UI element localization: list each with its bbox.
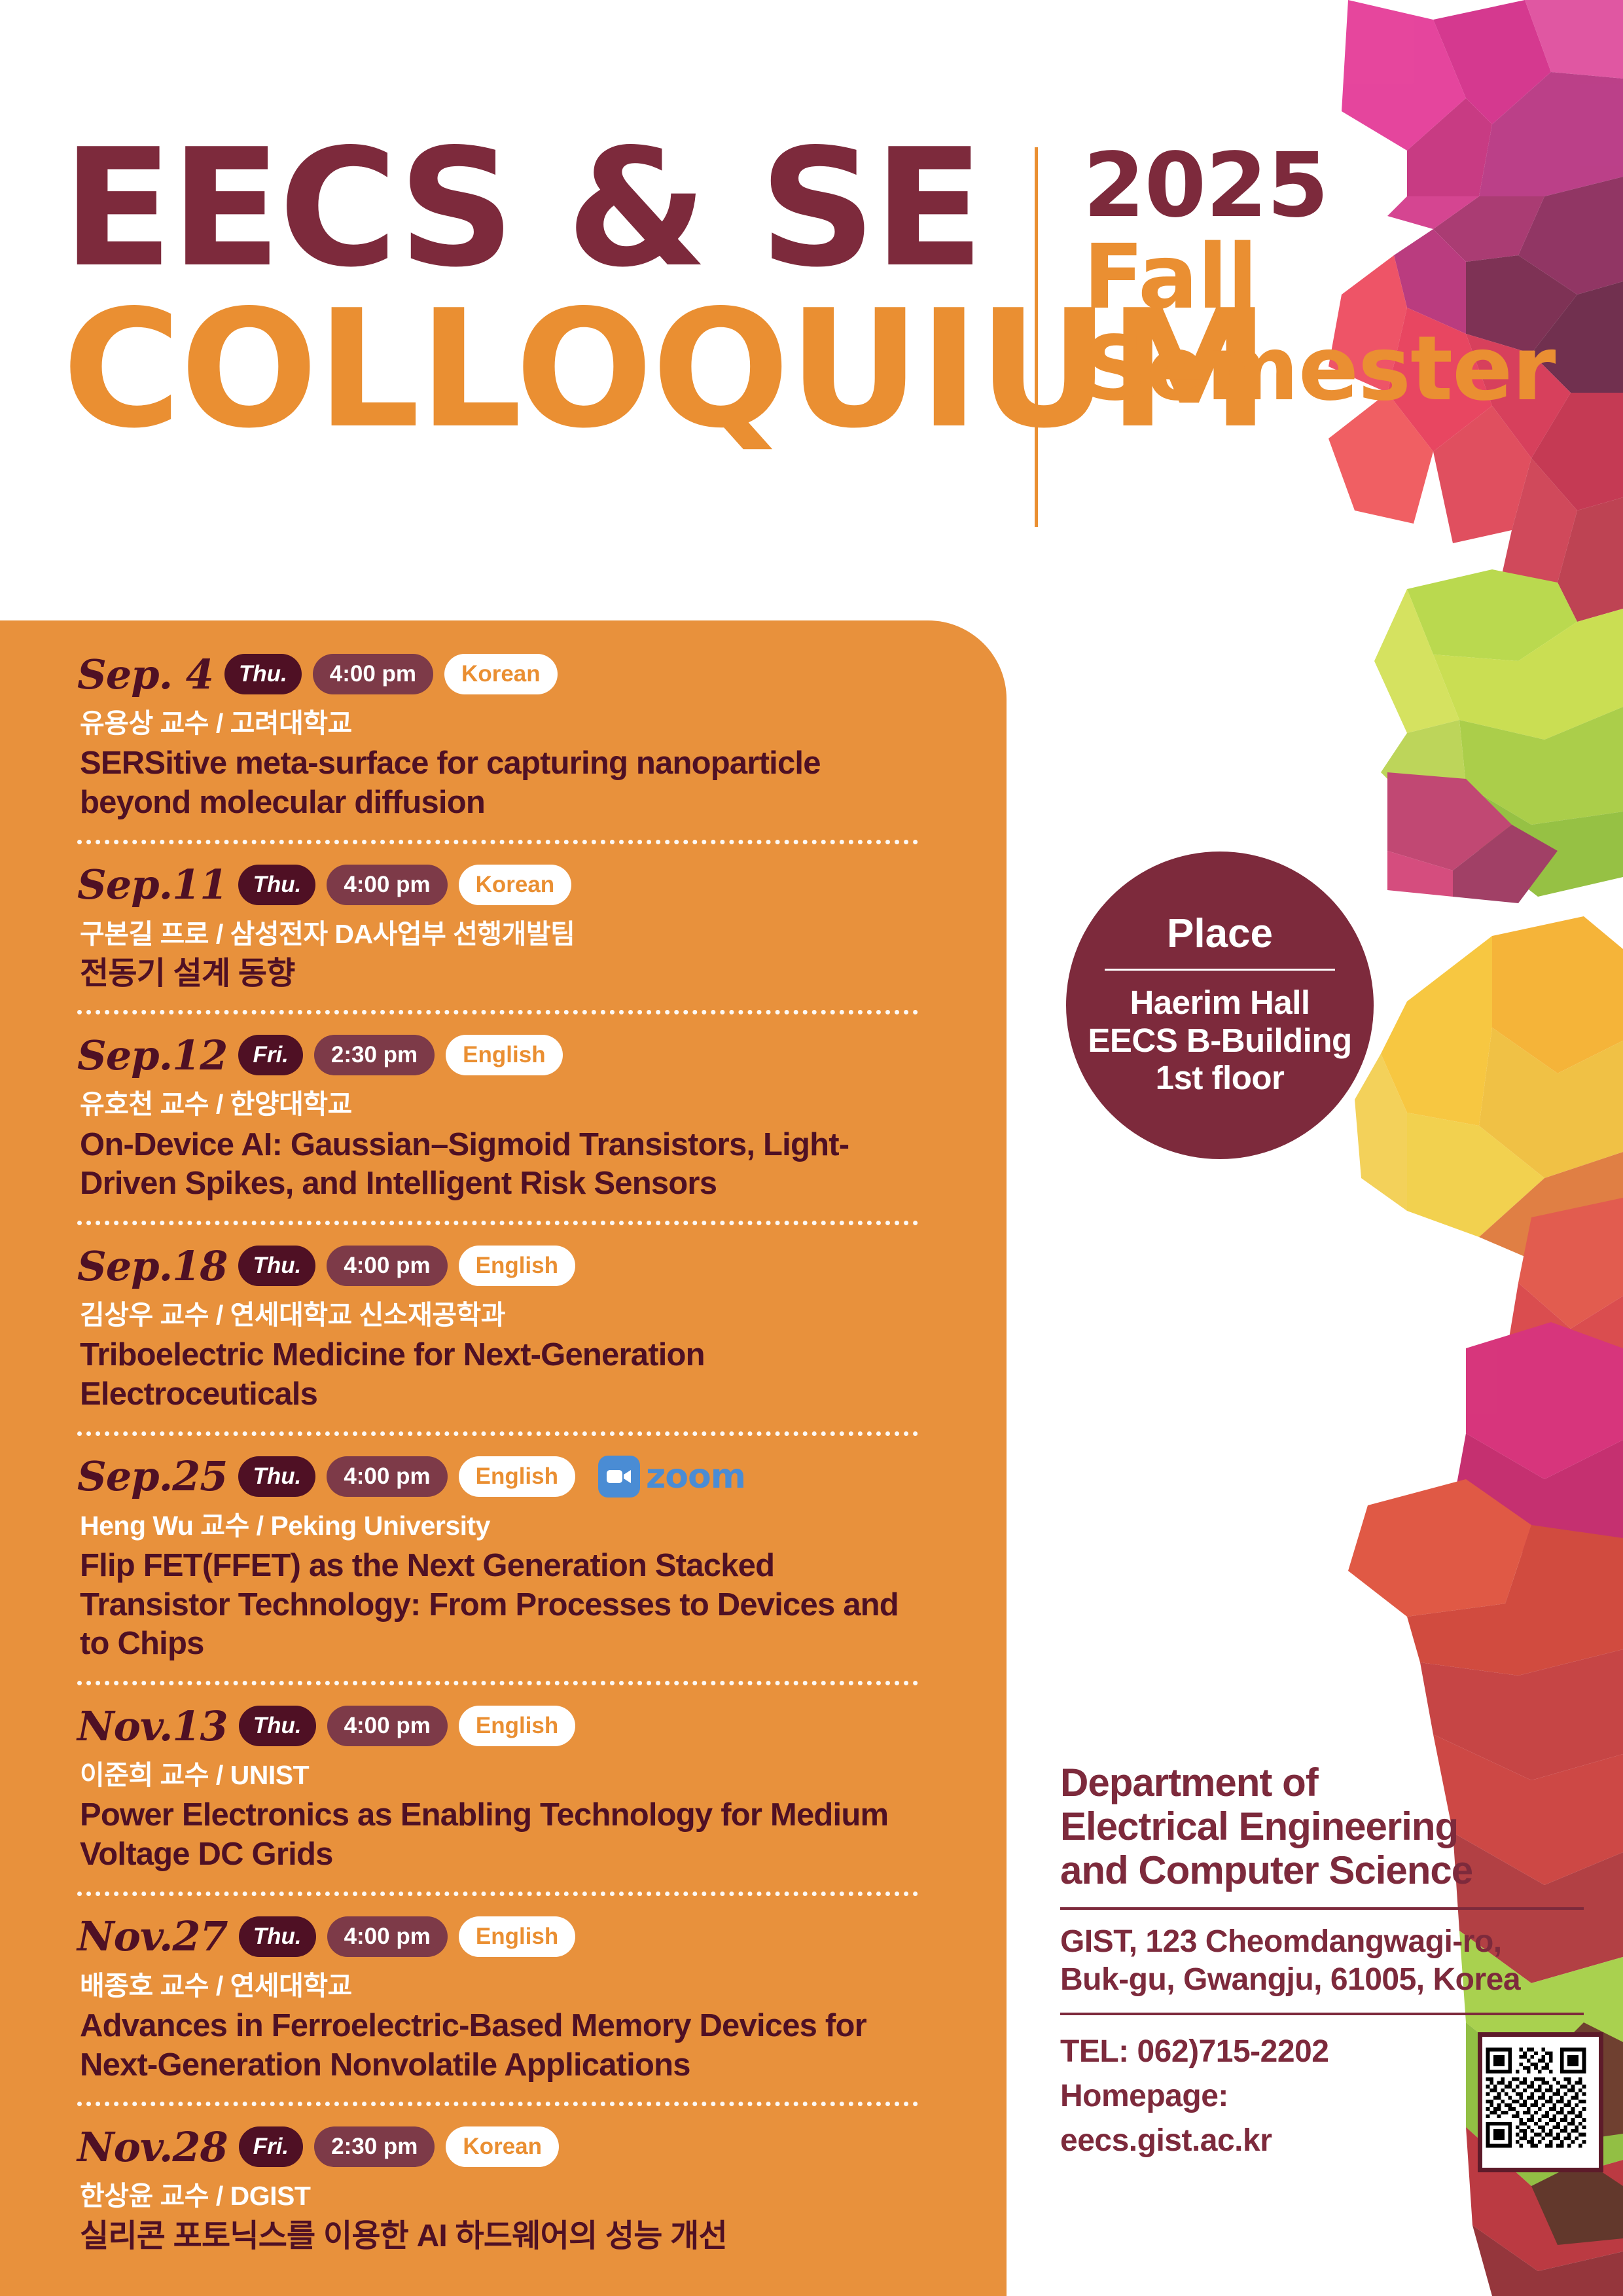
contact-details: TEL: 062)715-2202 Homepage: eecs.gist.ac… [1060, 2030, 1329, 2163]
entry-meta-row: Sep.18Thu.4:00 pmEnglish [77, 1240, 928, 1292]
schedule-list: Sep. 4Thu.4:00 pmKorean유용상 교수 / 고려대학교SER… [77, 648, 928, 2258]
entry-date: Sep.18 [77, 1242, 227, 1290]
entry-speaker: Heng Wu 교수 / Peking University [80, 1511, 928, 1541]
entry-speaker: 유호천 교수 / 한양대학교 [80, 1089, 928, 1120]
semester-label: Semester [1083, 323, 1555, 415]
department-divider-bottom [1060, 2013, 1584, 2015]
place-line-1: Haerim Hall [1130, 984, 1310, 1022]
entry-date: Sep.25 [77, 1452, 227, 1500]
department-name: Department of Electrical Engineering and… [1060, 1761, 1603, 1893]
entry-date: Nov.13 [77, 1702, 228, 1750]
entry-talk-title: Triboelectric Medicine for Next-Generati… [80, 1336, 928, 1414]
entry-talk-title: 전동기 설계 동향 [80, 955, 928, 994]
entry-weekday-badge: Thu. [238, 1246, 315, 1286]
place-title: Place [1167, 914, 1273, 954]
entry-language-badge: English [459, 1246, 575, 1286]
telephone-number: TEL: 062)715-2202 [1060, 2030, 1329, 2074]
entry-speaker: 구본길 프로 / 삼성전자 DA사업부 선행개발팀 [80, 919, 928, 950]
schedule-entry: Sep.11Thu.4:00 pmKorean구본길 프로 / 삼성전자 DA사… [77, 859, 928, 996]
department-address: GIST, 123 Cheomdangwagi-ro, Buk-gu, Gwan… [1060, 1923, 1603, 2000]
entry-talk-title: 실리콘 포토닉스를 이용한 AI 하드웨어의 성능 개선 [80, 2217, 928, 2256]
entry-date: Sep.12 [77, 1031, 227, 1079]
entry-weekday-badge: Thu. [238, 865, 315, 905]
entry-language-badge: English [459, 1456, 575, 1497]
entry-time-badge: 4:00 pm [327, 865, 447, 905]
place-line-3: 1st floor [1156, 1059, 1285, 1097]
entry-language-badge: English [459, 1706, 575, 1746]
entry-time-badge: 4:00 pm [327, 1916, 448, 1957]
schedule-entry: Sep.25Thu.4:00 pmEnglishzoomHeng Wu 교수 /… [77, 1450, 928, 1666]
entry-divider [77, 1681, 918, 1685]
homepage-url[interactable]: eecs.gist.ac.kr [1060, 2119, 1329, 2163]
place-line-2: EECS B-Building [1088, 1022, 1351, 1060]
zoom-logo: zoom [598, 1456, 745, 1498]
entry-talk-title: On-Device AI: Gaussian–Sigmoid Transisto… [80, 1126, 928, 1204]
homepage-label: Homepage: [1060, 2074, 1329, 2119]
entry-talk-title: Flip FET(FFET) as the Next Generation St… [80, 1547, 928, 1664]
entry-speaker: 유용상 교수 / 고려대학교 [80, 708, 928, 739]
department-name-line-2: Electrical Engineering [1060, 1804, 1603, 1848]
colloquium-poster: EECS & SE COLLOQUIUM 2025 Fall Semester … [0, 0, 1623, 2296]
schedule-entry: Nov.13Thu.4:00 pmEnglish이준희 교수 / UNISTPo… [77, 1700, 928, 1877]
entry-meta-row: Sep.11Thu.4:00 pmKorean [77, 859, 928, 911]
entry-time-badge: 4:00 pm [313, 654, 433, 694]
title-divider [1035, 147, 1038, 527]
entry-language-badge: English [446, 1035, 562, 1075]
entry-divider [77, 1892, 918, 1896]
entry-divider [77, 1221, 918, 1225]
place-divider [1105, 969, 1335, 971]
entry-date: Nov.27 [77, 1912, 228, 1960]
schedule-panel: Sep. 4Thu.4:00 pmKorean유용상 교수 / 고려대학교SER… [0, 620, 1007, 2296]
qr-code-image [1482, 2037, 1590, 2159]
entry-meta-row: Nov.28Fri.2:30 pmKorean [77, 2121, 928, 2173]
entry-talk-title: Advances in Ferroelectric-Based Memory D… [80, 2007, 928, 2085]
schedule-entry: Sep.12Fri.2:30 pmEnglish유호천 교수 / 한양대학교On… [77, 1029, 928, 1206]
entry-language-badge: English [459, 1916, 575, 1957]
entry-time-badge: 2:30 pm [314, 1035, 435, 1075]
video-camera-icon [598, 1456, 640, 1498]
season-label: Fall [1083, 232, 1555, 323]
contact-row: TEL: 062)715-2202 Homepage: eecs.gist.ac… [1060, 2030, 1603, 2172]
entry-time-badge: 4:00 pm [327, 1456, 447, 1497]
semester-block: 2025 Fall Semester [1083, 141, 1555, 415]
entry-meta-row: Nov.27Thu.4:00 pmEnglish [77, 1910, 928, 1963]
entry-date: Sep.11 [77, 861, 227, 908]
department-name-line-1: Department of [1060, 1761, 1603, 1804]
zoom-wordmark: zoom [646, 1457, 745, 1496]
place-badge: Place Haerim Hall EECS B-Building 1st fl… [1066, 852, 1374, 1159]
schedule-entry: Nov.27Thu.4:00 pmEnglish배종호 교수 / 연세대학교Ad… [77, 1910, 928, 2088]
entry-talk-title: SERSitive meta-surface for capturing nan… [80, 744, 928, 823]
entry-meta-row: Sep.25Thu.4:00 pmEnglishzoom [77, 1450, 928, 1503]
entry-divider [77, 1431, 918, 1436]
entry-weekday-badge: Thu. [224, 654, 302, 694]
entry-meta-row: Sep. 4Thu.4:00 pmKorean [77, 648, 928, 700]
entry-language-badge: Korean [446, 2126, 559, 2167]
department-name-line-3: and Computer Science [1060, 1848, 1603, 1892]
entry-time-badge: 4:00 pm [327, 1706, 448, 1746]
entry-speaker: 이준희 교수 / UNIST [80, 1760, 928, 1791]
entry-time-badge: 2:30 pm [314, 2126, 435, 2167]
entry-talk-title: Power Electronics as Enabling Technology… [80, 1796, 928, 1874]
schedule-entry: Sep. 4Thu.4:00 pmKorean유용상 교수 / 고려대학교SER… [77, 648, 928, 825]
entry-divider [77, 2102, 918, 2106]
entry-divider [77, 1010, 918, 1014]
entry-language-badge: Korean [459, 865, 572, 905]
entry-weekday-badge: Fri. [239, 2126, 303, 2167]
entry-speaker: 한상윤 교수 / DGIST [80, 2181, 928, 2212]
address-line-2: Buk-gu, Gwangju, 61005, Korea [1060, 1961, 1603, 2000]
department-info: Department of Electrical Engineering and… [1060, 1761, 1603, 2172]
entry-weekday-badge: Thu. [239, 1916, 316, 1957]
year-label: 2025 [1083, 141, 1555, 232]
entry-language-badge: Korean [444, 654, 558, 694]
entry-date: Sep. 4 [77, 651, 213, 698]
qr-code[interactable] [1478, 2032, 1603, 2172]
entry-weekday-badge: Fri. [238, 1035, 302, 1075]
entry-time-badge: 4:00 pm [327, 1246, 447, 1286]
entry-weekday-badge: Thu. [239, 1706, 316, 1746]
department-divider-top [1060, 1907, 1584, 1910]
poster-header: EECS & SE COLLOQUIUM 2025 Fall Semester [0, 0, 1623, 620]
entry-weekday-badge: Thu. [238, 1456, 315, 1497]
schedule-entry: Nov.28Fri.2:30 pmKorean한상윤 교수 / DGIST실리콘… [77, 2121, 928, 2258]
entry-meta-row: Sep.12Fri.2:30 pmEnglish [77, 1029, 928, 1081]
address-line-1: GIST, 123 Cheomdangwagi-ro, [1060, 1923, 1603, 1962]
entry-divider [77, 840, 918, 844]
entry-meta-row: Nov.13Thu.4:00 pmEnglish [77, 1700, 928, 1752]
entry-speaker: 배종호 교수 / 연세대학교 [80, 1971, 928, 2001]
entry-date: Nov.28 [77, 2123, 228, 2171]
entry-speaker: 김상우 교수 / 연세대학교 신소재공학과 [80, 1300, 928, 1331]
schedule-entry: Sep.18Thu.4:00 pmEnglish김상우 교수 / 연세대학교 신… [77, 1240, 928, 1417]
